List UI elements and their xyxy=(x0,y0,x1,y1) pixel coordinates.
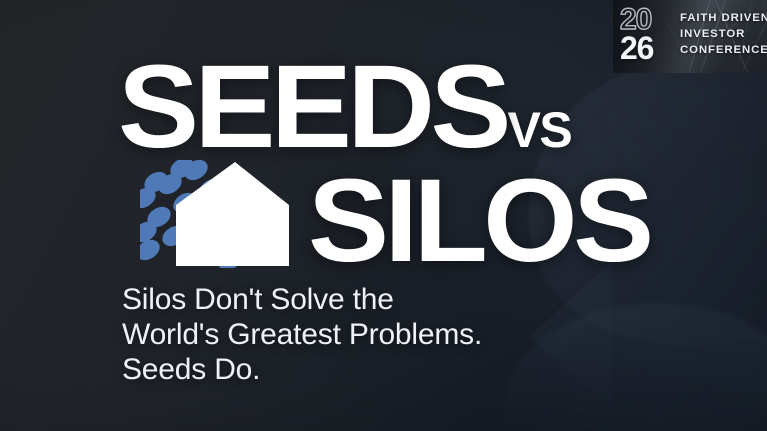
title-word-silos: SILOS xyxy=(308,171,650,272)
subtitle-line-1: Silos Don't Solve the xyxy=(122,283,482,318)
subtitle-block: Silos Don't Solve the World's Greatest P… xyxy=(122,283,482,387)
title-word-vs: VS xyxy=(508,109,572,152)
subtitle-line-3: Seeds Do. xyxy=(122,353,482,388)
subtitle-line-2: World's Greatest Problems. xyxy=(122,318,482,353)
title-word-seeds: SEEDS xyxy=(118,57,507,158)
title-line-one: SEEDS VS xyxy=(118,57,571,158)
seeds-silo-logo-icon xyxy=(140,160,294,268)
slide-canvas: 20 26 FAITH DRIVEN INVESTOR CONFERENCE S… xyxy=(0,0,767,431)
title-line-two: SILOS xyxy=(140,160,640,268)
